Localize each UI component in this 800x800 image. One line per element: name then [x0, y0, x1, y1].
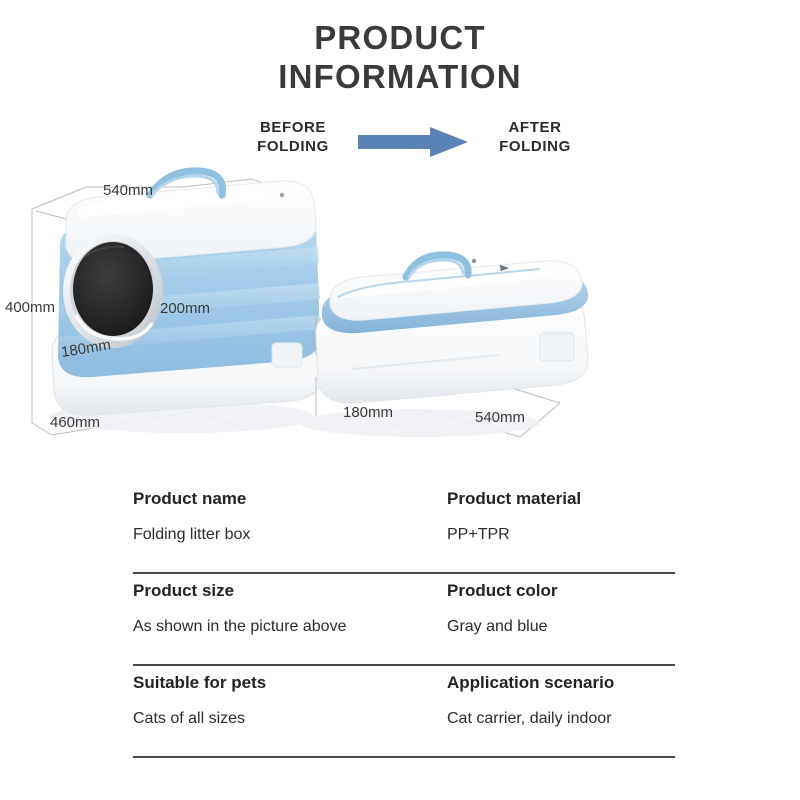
dimension-label-540mm-top: 540mm: [103, 182, 153, 199]
product-illustration: 540mm 400mm 200mm 180mm 460mm 180mm 540m…: [0, 165, 800, 465]
spec-cell-product-material: Product material PP+TPR: [447, 482, 677, 546]
table-row: Product size As shown in the picture abo…: [133, 574, 675, 666]
spec-cell-product-color: Product color Gray and blue: [447, 574, 677, 638]
table-row: Product name Folding litter box Product …: [133, 482, 675, 574]
spec-key: Product size: [133, 574, 443, 602]
after-folding-line-1: AFTER: [470, 118, 600, 137]
spec-key: Product name: [133, 482, 443, 510]
spec-value: PP+TPR: [447, 510, 677, 546]
spec-key: Product material: [447, 482, 677, 510]
spec-cell-product-size: Product size As shown in the picture abo…: [133, 574, 443, 638]
page-title-line-2: INFORMATION: [0, 57, 800, 96]
after-folding-line-2: FOLDING: [470, 137, 600, 156]
spec-value: As shown in the picture above: [133, 602, 443, 638]
after-folding-label: AFTER FOLDING: [470, 118, 600, 156]
page-title-line-1: PRODUCT: [0, 18, 800, 57]
table-row: Suitable for pets Cats of all sizes Appl…: [133, 666, 675, 758]
spec-cell-suitable-for-pets: Suitable for pets Cats of all sizes: [133, 666, 443, 730]
before-folding-label: BEFORE FOLDING: [228, 118, 358, 156]
specification-table: Product name Folding litter box Product …: [133, 482, 675, 758]
spec-key: Product color: [447, 574, 677, 602]
spec-key: Suitable for pets: [133, 666, 443, 694]
dimension-label-460mm: 460mm: [50, 414, 100, 431]
dimension-label-180mm-folded: 180mm: [343, 404, 393, 421]
before-folding-line-1: BEFORE: [228, 118, 358, 137]
spec-cell-application-scenario: Application scenario Cat carrier, daily …: [447, 666, 677, 730]
spec-value: Cat carrier, daily indoor: [447, 694, 677, 730]
dimension-label-400mm: 400mm: [5, 299, 55, 316]
spec-value: Folding litter box: [133, 510, 443, 546]
right-arrow-icon: [358, 126, 468, 158]
before-folding-line-2: FOLDING: [228, 137, 358, 156]
dimension-label-200mm: 200mm: [160, 300, 210, 317]
spec-value: Gray and blue: [447, 602, 677, 638]
spec-key: Application scenario: [447, 666, 677, 694]
fold-comparison-header: BEFORE FOLDING AFTER FOLDING: [0, 112, 800, 162]
spec-value: Cats of all sizes: [133, 694, 443, 730]
dimension-label-540mm-folded: 540mm: [475, 409, 525, 426]
spec-cell-product-name: Product name Folding litter box: [133, 482, 443, 546]
page-title: PRODUCT INFORMATION: [0, 18, 800, 96]
